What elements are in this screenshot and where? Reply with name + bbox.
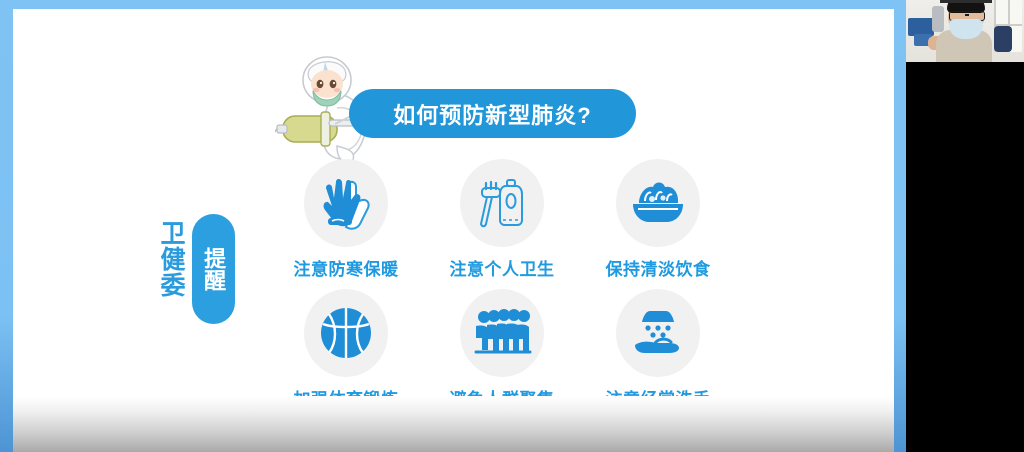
prevention-tips-grid: 注意防寒保暖 — [268, 159, 738, 421]
icon-disc — [460, 159, 544, 247]
participant-video-thumbnail[interactable] — [906, 0, 1024, 62]
icon-disc — [304, 289, 388, 377]
chair — [994, 26, 1012, 52]
tip-label: 注意防寒保暖 — [268, 255, 424, 280]
tip-tile-hygiene: 注意个人卫生 — [424, 159, 580, 289]
reminder-badge-label: 提醒 — [201, 247, 226, 291]
handwash-icon — [629, 305, 687, 361]
screen-share-window: 如何预防新型肺炎? 卫健委 提醒 — [0, 0, 1024, 452]
crowd-icon — [472, 306, 532, 360]
icon-disc — [460, 289, 544, 377]
gloves-icon — [318, 174, 374, 232]
tip-label: 注意个人卫生 — [424, 255, 580, 280]
ceiling-bar — [940, 0, 992, 3]
vegetable-bowl-icon — [629, 177, 687, 229]
slide-title-pill: 如何预防新型肺炎? — [349, 89, 636, 138]
handheld-device — [932, 6, 944, 32]
icon-disc — [304, 159, 388, 247]
icon-disc — [616, 159, 700, 247]
tip-tile-gloves: 注意防寒保暖 — [268, 159, 424, 289]
video-panel — [906, 0, 1024, 452]
icon-disc — [616, 289, 700, 377]
brand-block: 卫健委 提醒 — [151, 214, 251, 326]
reminder-badge: 提醒 — [192, 214, 235, 324]
tip-tile-diet: 保持清淡饮食 — [580, 159, 736, 289]
basketball-icon — [317, 304, 375, 362]
slide-title: 如何预防新型肺炎? — [393, 98, 591, 130]
tip-label: 保持清淡饮食 — [580, 255, 736, 280]
toothbrush-toothpaste-icon — [474, 174, 530, 232]
tips-row-1: 注意防寒保暖 — [268, 159, 738, 289]
slide-bottom-fade — [13, 396, 894, 452]
organization-label: 卫健委 — [151, 220, 183, 298]
presentation-slide: 如何预防新型肺炎? 卫健委 提醒 — [13, 9, 894, 452]
shared-content-area: 如何预防新型肺炎? 卫健委 提醒 — [0, 0, 906, 452]
